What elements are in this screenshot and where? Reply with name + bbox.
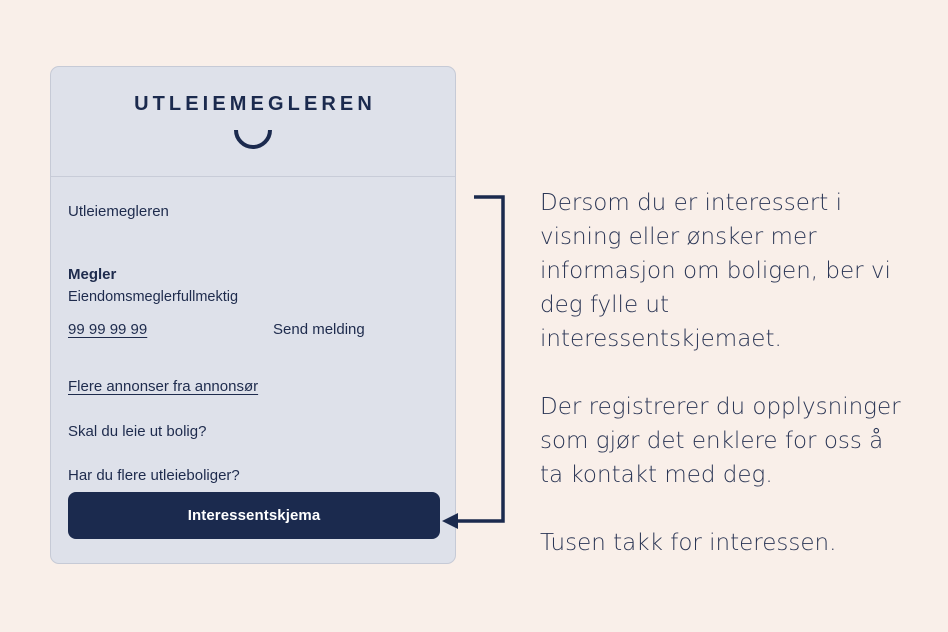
agent-job-title: Eiendomsmeglerfullmektig bbox=[68, 287, 438, 308]
advertiser-links: Flere annonser fra annonsør Skal du leie… bbox=[68, 377, 438, 486]
company-name: Utleiemegleren bbox=[68, 203, 438, 221]
broker-contact-card: UTLEIEMEGLEREN Utleiemegleren Megler Eie… bbox=[50, 66, 456, 564]
logo-wordmark: UTLEIEMEGLEREN bbox=[130, 94, 376, 114]
annotation-paragraph-1: Dersom du er interessert i visning eller… bbox=[540, 186, 910, 356]
contact-row: 99 99 99 99 Send melding bbox=[68, 321, 438, 338]
more-rental-homes-link[interactable]: Har du flere utleieboliger? bbox=[68, 466, 438, 486]
send-message-link[interactable]: Send melding bbox=[273, 321, 365, 338]
more-ads-from-advertiser-link[interactable]: Flere annonser fra annonsør bbox=[68, 377, 438, 397]
phone-number-link[interactable]: 99 99 99 99 bbox=[68, 321, 273, 338]
card-header: UTLEIEMEGLEREN bbox=[51, 67, 455, 177]
smile-arc-icon bbox=[233, 129, 273, 149]
annotation-paragraph-3: Tusen takk for interessen. bbox=[540, 526, 910, 560]
annotation-paragraph-2: Der registrerer du opplysninger som gjør… bbox=[540, 390, 910, 492]
agent-block: Megler Eiendomsmeglerfullmektig 99 99 99… bbox=[68, 265, 438, 338]
rent-out-home-link[interactable]: Skal du leie ut bolig? bbox=[68, 422, 438, 442]
interessentskjema-button[interactable]: Interessentskjema bbox=[68, 492, 440, 539]
card-body: Utleiemegleren Megler Eiendomsmeglerfull… bbox=[51, 177, 455, 486]
agent-role: Megler bbox=[68, 265, 438, 285]
annotation-text-block: Dersom du er interessert i visning eller… bbox=[540, 186, 910, 560]
